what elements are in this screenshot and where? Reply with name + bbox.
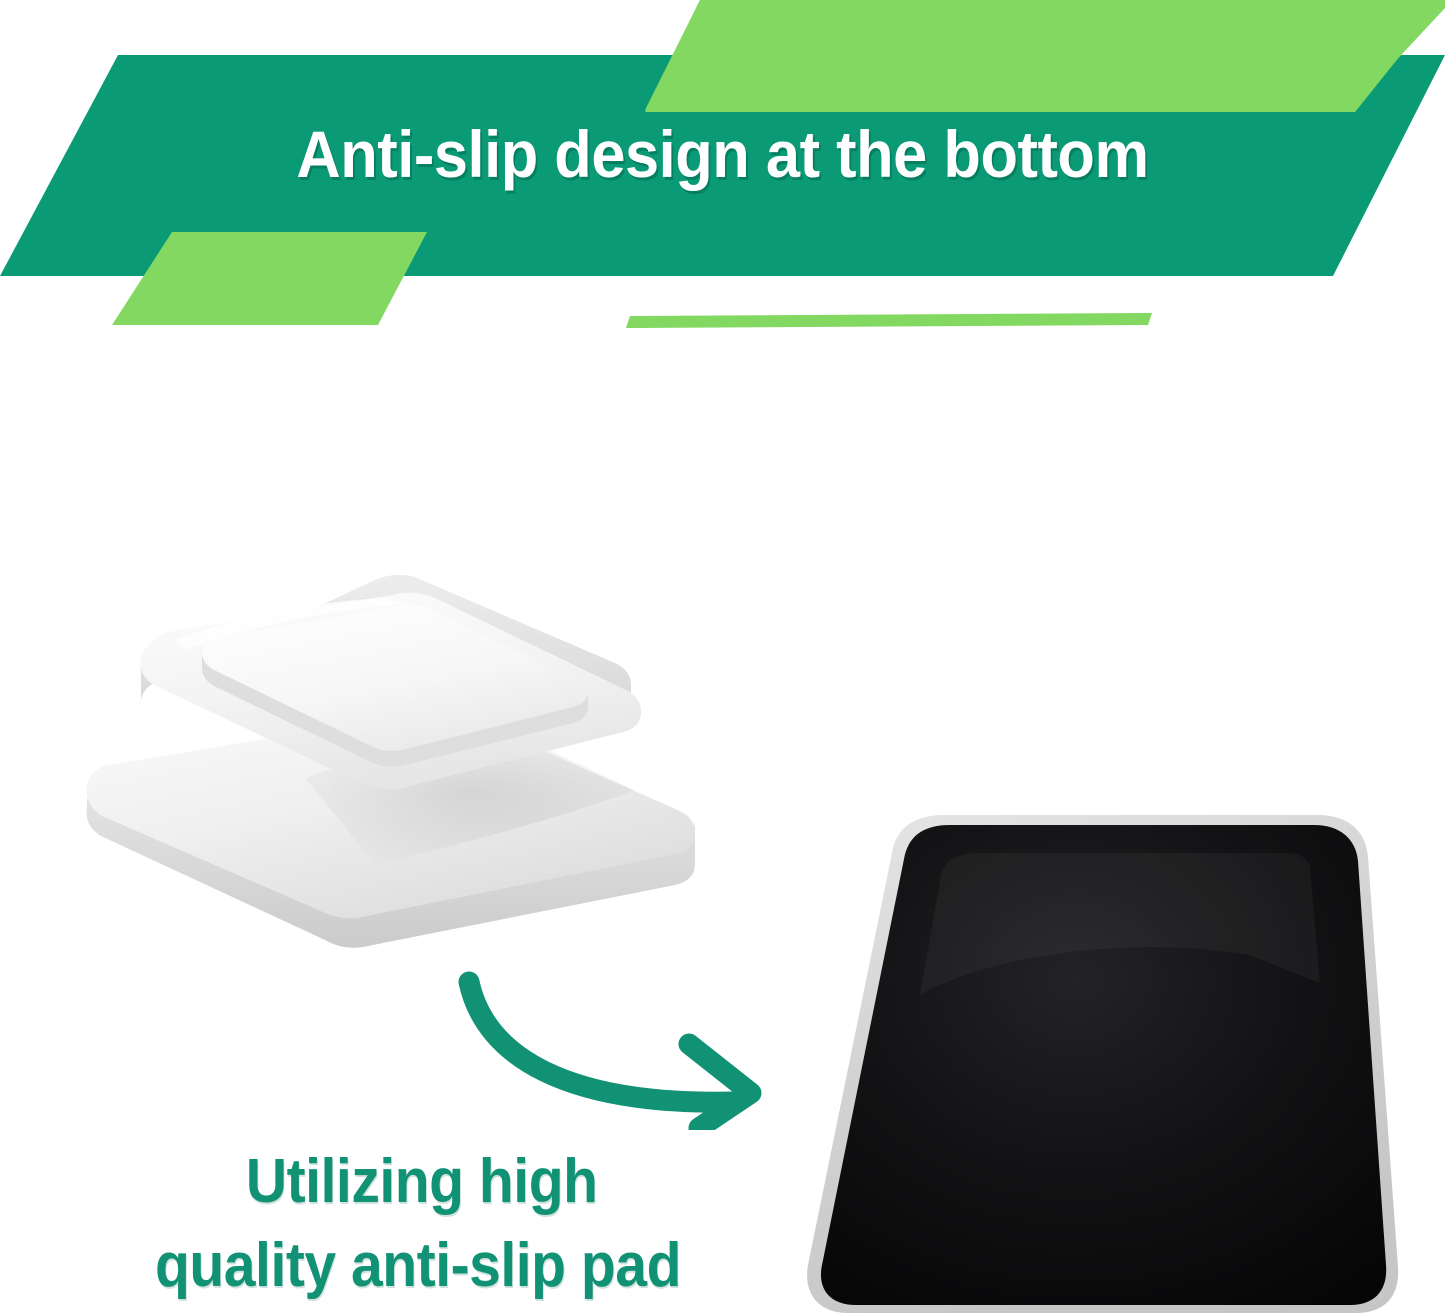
curved-callout-arrow bbox=[455, 960, 805, 1130]
caption-line-1: Utilizing high bbox=[50, 1140, 786, 1224]
arrow-icon bbox=[455, 960, 805, 1130]
green-accent-top-shape-b bbox=[645, 0, 1445, 112]
page-title: Anti-slip design at the bottom bbox=[51, 118, 1395, 190]
white-pad-product-image bbox=[75, 520, 795, 980]
green-underline-bar-shape bbox=[626, 313, 1152, 328]
arrow-head-path bbox=[689, 1044, 751, 1128]
product-marketing-image: Anti-slip design at the bottom bbox=[0, 0, 1445, 1313]
header-banner: Anti-slip design at the bottom bbox=[0, 0, 1445, 340]
caption-line-2: quality anti-slip pad bbox=[50, 1224, 786, 1308]
black-pad-illustration bbox=[800, 795, 1420, 1313]
black-anti-slip-pad-image bbox=[800, 795, 1420, 1313]
caption-text: Utilizing high quality anti-slip pad bbox=[50, 1140, 786, 1308]
white-pad-illustration bbox=[75, 520, 795, 980]
